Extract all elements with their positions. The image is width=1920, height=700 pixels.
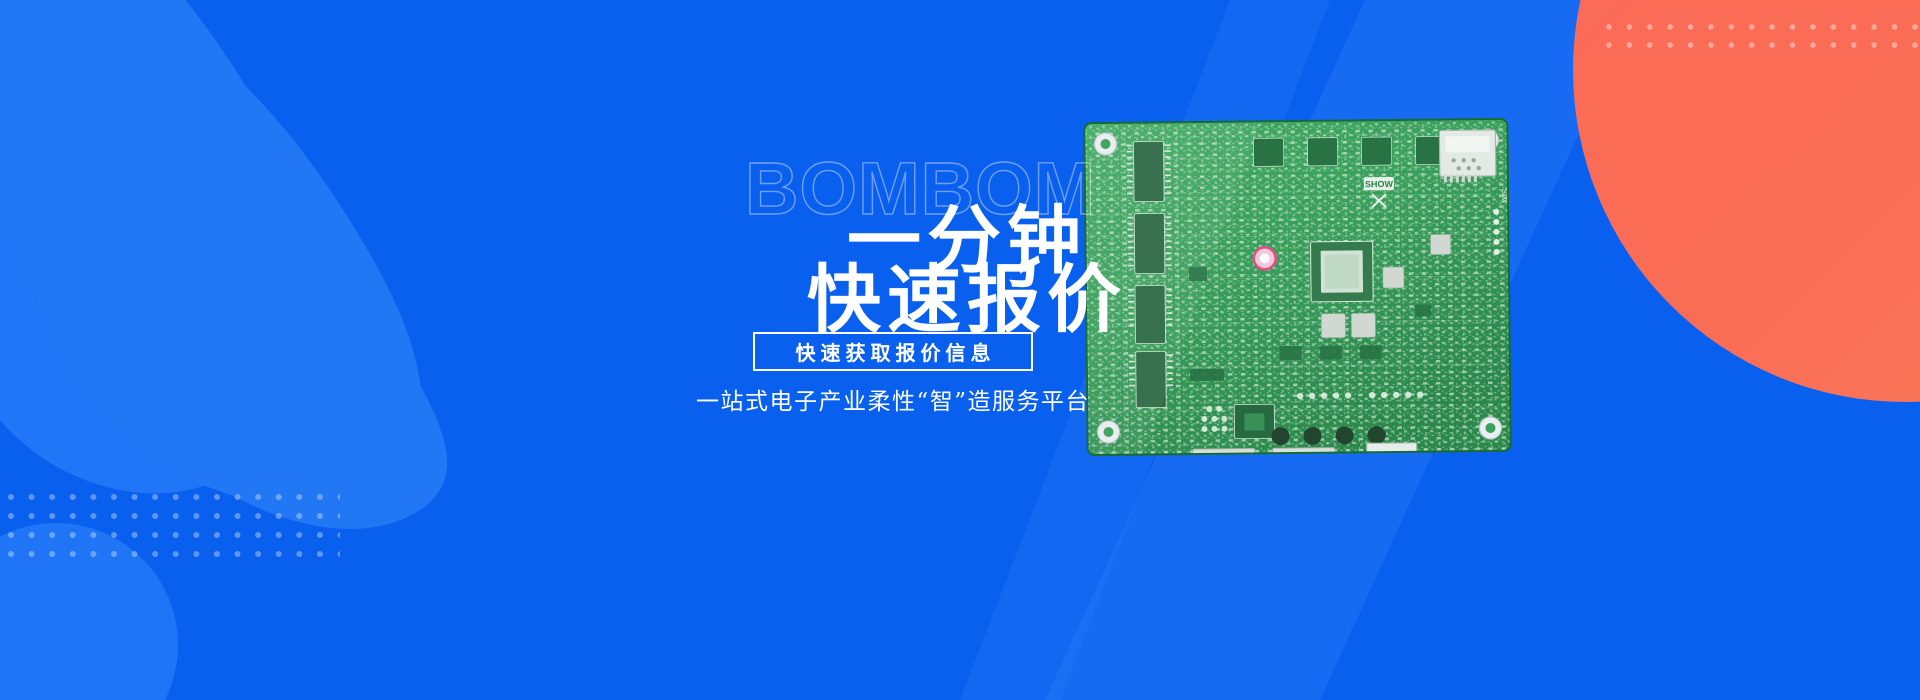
dot-grid-top-right — [1606, 24, 1920, 50]
background-decor-layer — [0, 0, 1920, 700]
pcb-board-image: SHOW SIM — [1081, 116, 1514, 458]
promo-banner: SHOW SIM — [0, 0, 1920, 700]
coral-circle-shape — [1573, 0, 1920, 402]
dot-grid-bottom-left — [8, 494, 340, 568]
